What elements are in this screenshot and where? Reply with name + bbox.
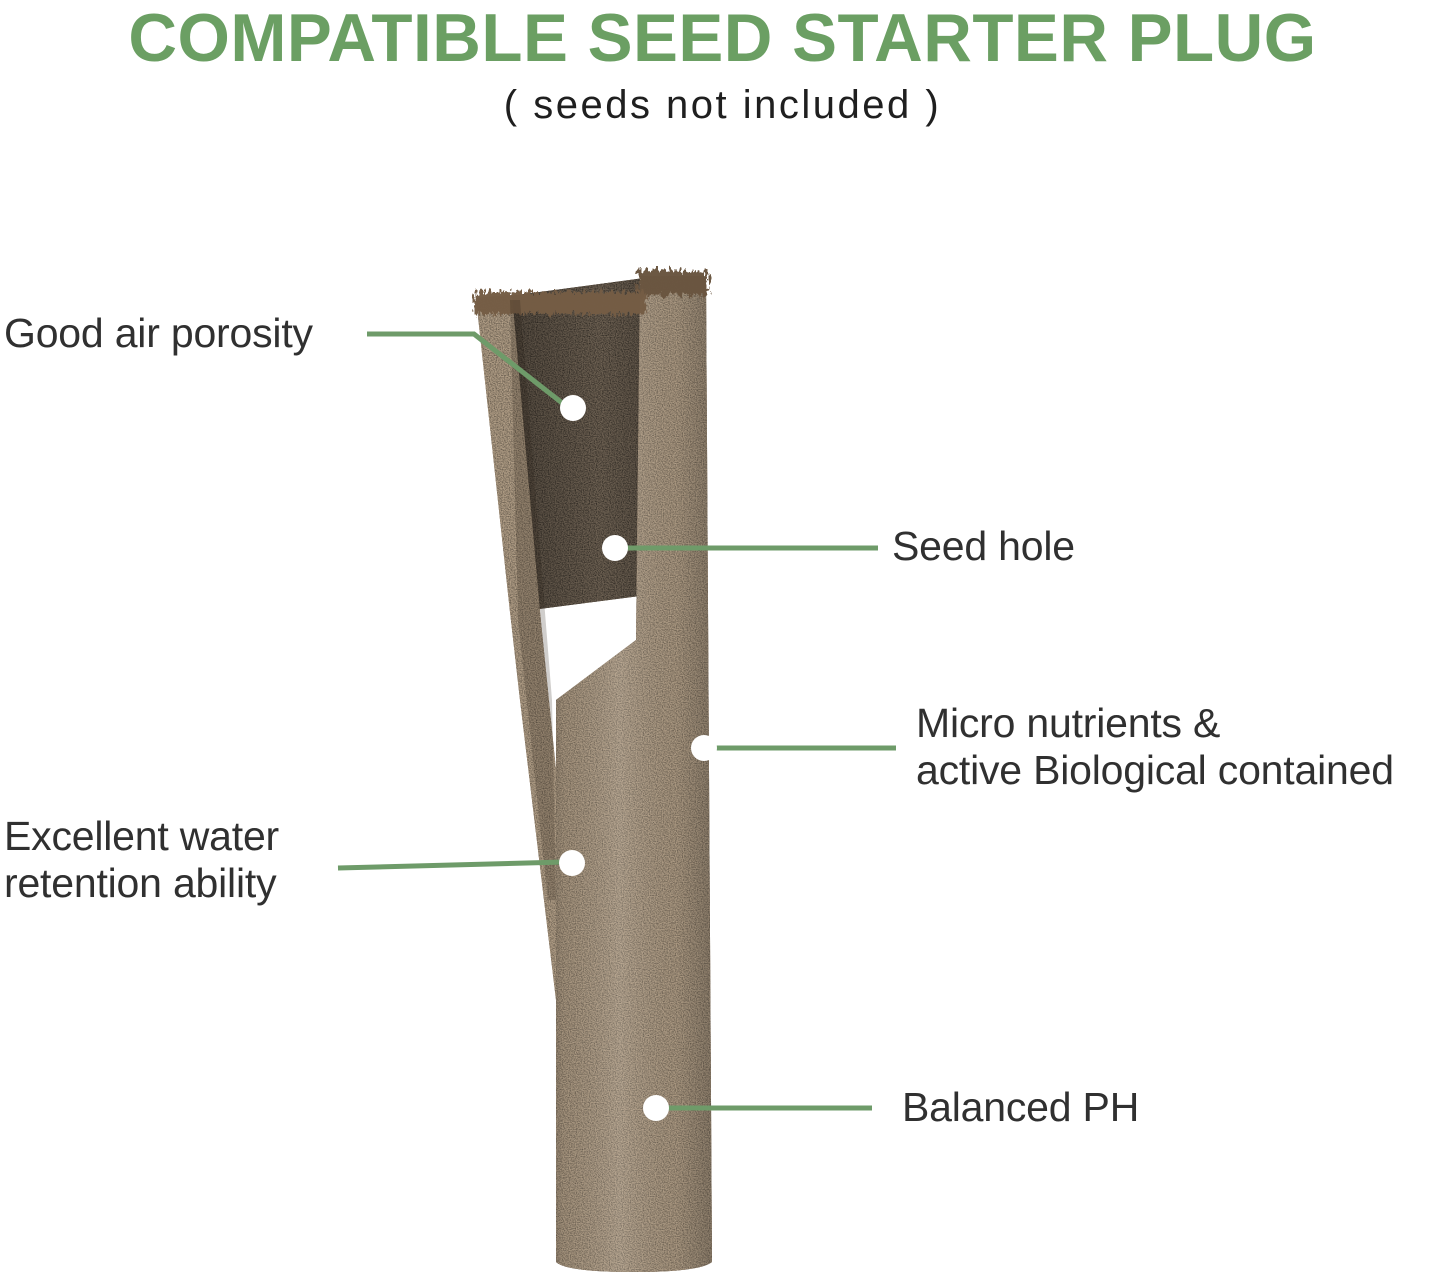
callout-label-water-retention: Excellent water retention ability [4,813,279,907]
callout-label-good-air-porosity: Good air porosity [4,309,313,357]
callout-text-line: Seed hole [892,522,1075,570]
callout-text-line: active Biological contained [916,747,1394,794]
callout-text-line: Micro nutrients & [916,700,1394,747]
callout-text-line: Good air porosity [4,309,313,357]
plug-top-edge-right [638,270,708,296]
callout-label-balanced-ph: Balanced PH [902,1083,1139,1131]
callout-label-micro-nutrients: Micro nutrients & active Biological cont… [916,700,1394,794]
plug-top-edge-left [474,292,646,314]
callout-label-seed-hole: Seed hole [892,522,1075,570]
callout-text-line: Balanced PH [902,1083,1139,1131]
callout-text-line: retention ability [4,860,279,907]
seed-starter-plug-illustration [0,0,1445,1276]
callout-text-line: Excellent water [4,813,279,860]
infographic-canvas: COMPATIBLE SEED STARTER PLUG ( seeds not… [0,0,1445,1276]
